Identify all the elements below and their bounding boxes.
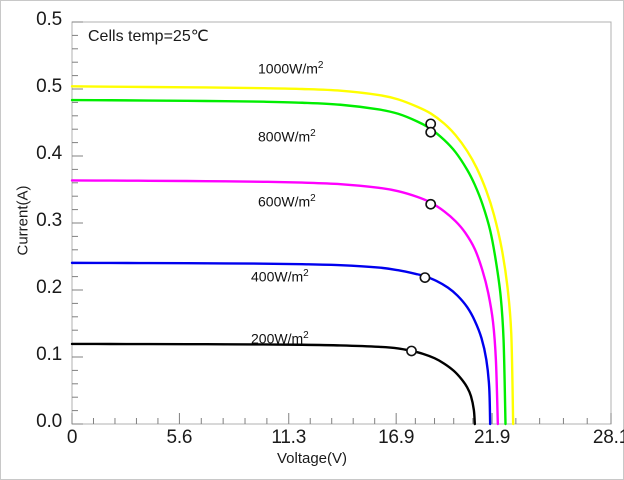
x-tick-label: 28.1 xyxy=(571,427,624,449)
x-tick-label: 5.6 xyxy=(139,427,219,449)
y-tick-label: 0.5 xyxy=(0,9,62,31)
curve-label-400Wm: 400W/m2 xyxy=(251,268,309,285)
x-tick-label: 0 xyxy=(32,427,112,449)
curve-200Wm xyxy=(72,344,475,424)
y-tick-label: 0.1 xyxy=(0,344,62,366)
curve-label-200Wm: 200W/m2 xyxy=(251,330,309,347)
plot-frame xyxy=(72,22,611,424)
mpp-marker xyxy=(426,200,435,209)
y-tick-label: 0.5 xyxy=(0,76,62,98)
curve-label-800Wm: 800W/m2 xyxy=(258,128,316,145)
x-tick-label: 21.9 xyxy=(452,427,532,449)
x-axis-title: Voltage(V) xyxy=(0,450,624,467)
x-tick-label: 11.3 xyxy=(249,427,329,449)
chart-figure: Cells temp=25℃ 0.00.10.20.30.40.50.5 05.… xyxy=(0,0,624,480)
mpp-marker xyxy=(420,273,429,282)
curve-600Wm xyxy=(72,180,498,424)
mpp-marker xyxy=(426,128,435,137)
mpp-marker xyxy=(407,346,416,355)
curve-label-1000Wm: 1000W/m2 xyxy=(258,60,323,77)
curve-label-600Wm: 600W/m2 xyxy=(258,193,316,210)
annotation-cells-temperature: Cells temp=25℃ xyxy=(88,26,209,46)
x-tick-label: 16.9 xyxy=(356,427,436,449)
y-axis-title: Current(A) xyxy=(15,161,32,281)
